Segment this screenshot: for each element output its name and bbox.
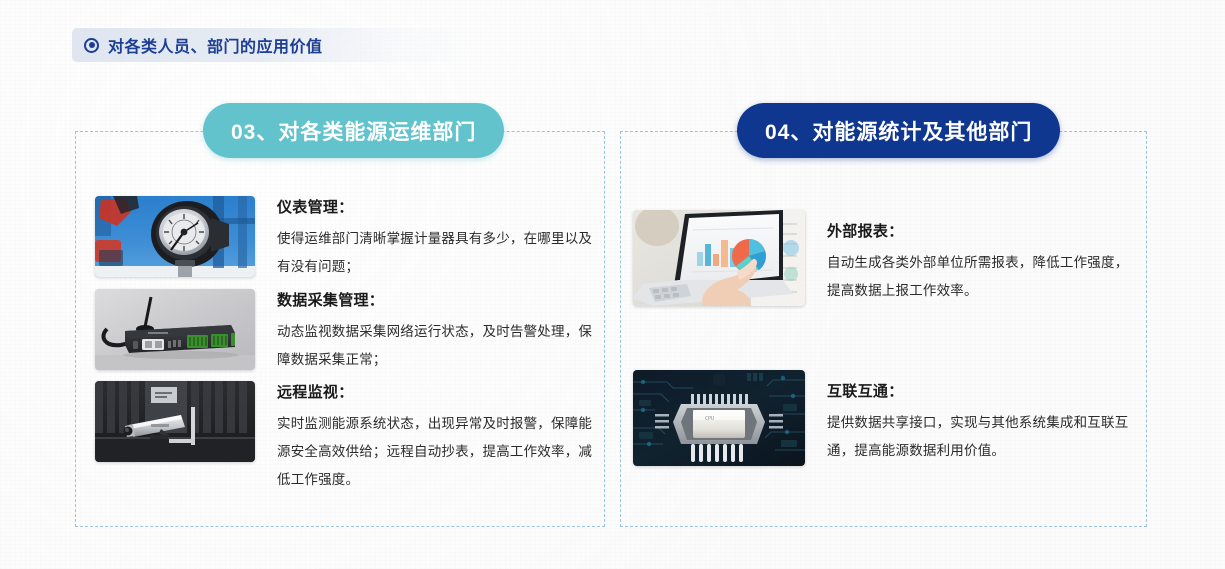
item-title: 仪表管理：: [277, 196, 595, 217]
item-title: 远程监视：: [277, 381, 599, 402]
item-description: 动态监视数据采集网络运行状态，及时告警处理，保障数据采集正常；: [277, 318, 595, 374]
item-description: 提供数据共享接口，实现与其他系统集成和互联互通，提高能源数据利用价值。: [827, 409, 1142, 465]
item-text-block: 互联互通： 提供数据共享接口，实现与其他系统集成和互联互通，提高能源数据利用价值…: [827, 370, 1142, 466]
badge-section-04[interactable]: 04、对能源统计及其他部门: [737, 103, 1060, 158]
item-text-block: 数据采集管理： 动态监视数据采集网络运行状态，及时告警处理，保障数据采集正常；: [277, 289, 595, 374]
list-item: 远程监视： 实时监测能源系统状态，出现异常及时报警，保障能源安全高效供给；远程自…: [95, 381, 600, 494]
item-text-block: 外部报表： 自动生成各类外部单位所需报表，降低工作强度，提高数据上报工作效率。: [827, 210, 1142, 306]
section-heading: 对各类人员、部门的应用价值: [72, 28, 492, 62]
item-title: 外部报表：: [827, 220, 1142, 241]
data-acquisition-device-photo: [95, 289, 255, 370]
item-title: 数据采集管理：: [277, 289, 595, 310]
item-title: 互联互通：: [827, 380, 1142, 401]
item-description: 自动生成各类外部单位所需报表，降低工作强度，提高数据上报工作效率。: [827, 249, 1142, 305]
cpu-circuit-board-photo: CPU: [633, 370, 805, 466]
item-text-block: 远程监视： 实时监测能源系统状态，出现异常及时报警，保障能源安全高效供给；远程自…: [277, 381, 599, 494]
svg-text:CPU: CPU: [705, 416, 714, 422]
target-circle-icon: [84, 38, 99, 53]
pressure-gauge-photo: [95, 196, 255, 277]
surveillance-camera-photo: [95, 381, 255, 462]
list-item: CPU 互: [633, 370, 1148, 466]
item-description: 使得运维部门清晰掌握计量器具有多少，在哪里以及有没有问题；: [277, 225, 595, 281]
list-item: 数据采集管理： 动态监视数据采集网络运行状态，及时告警处理，保障数据采集正常；: [95, 289, 595, 374]
laptop-charts-photo: [633, 210, 805, 306]
item-text-block: 仪表管理： 使得运维部门清晰掌握计量器具有多少，在哪里以及有没有问题；: [277, 196, 595, 281]
page-title: 对各类人员、部门的应用价值: [108, 33, 323, 57]
panel-right: [620, 131, 1147, 527]
list-item: 外部报表： 自动生成各类外部单位所需报表，降低工作强度，提高数据上报工作效率。: [633, 210, 1148, 306]
list-item: 仪表管理： 使得运维部门清晰掌握计量器具有多少，在哪里以及有没有问题；: [95, 196, 595, 281]
badge-section-03[interactable]: 03、对各类能源运维部门: [203, 103, 504, 158]
item-description: 实时监测能源系统状态，出现异常及时报警，保障能源安全高效供给；远程自动抄表，提高…: [277, 410, 599, 494]
